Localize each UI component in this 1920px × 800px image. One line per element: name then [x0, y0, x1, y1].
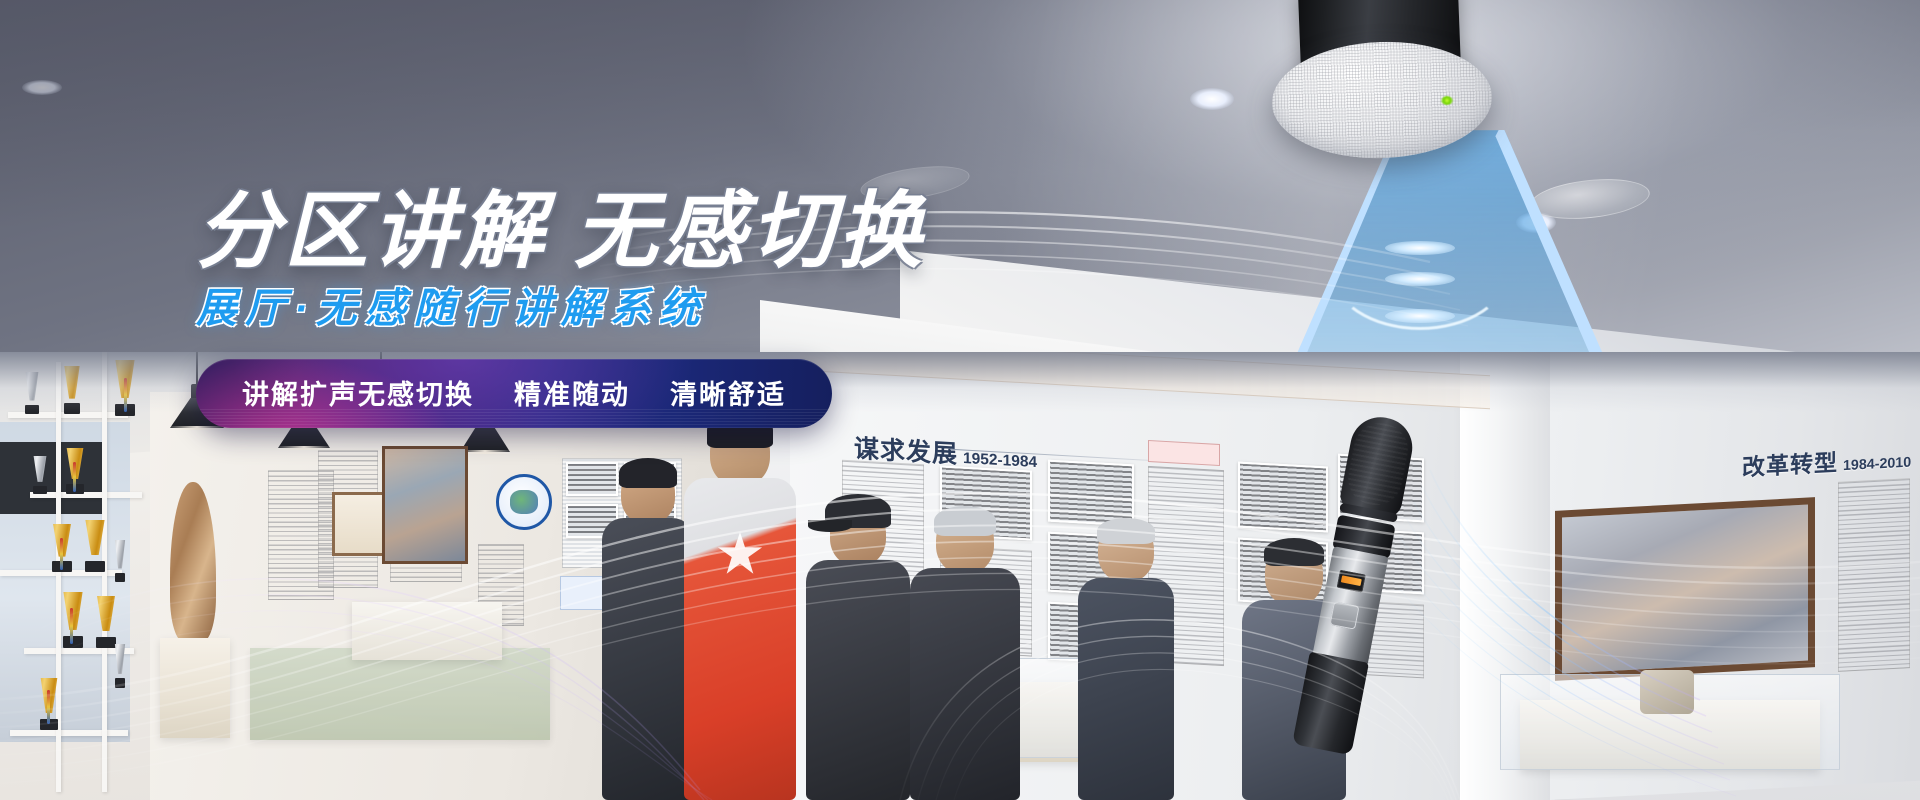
headline-part-2: 无感切换	[574, 184, 926, 278]
visitor-torso	[602, 518, 694, 800]
feature-item-2: 精准随动	[514, 373, 630, 412]
trophy	[92, 596, 120, 648]
framed-historical-painting	[1555, 497, 1815, 681]
visitor-with-cap	[806, 504, 910, 800]
feature-item-1: 讲解扩声无感切换	[242, 373, 474, 412]
downlight-icon	[22, 80, 62, 95]
visitor-hair	[1264, 538, 1324, 566]
trophy-ribbon	[60, 538, 63, 570]
mic-handle	[1292, 652, 1369, 756]
feature-item-3: 清晰舒适	[670, 373, 786, 412]
exhibit-display-case	[352, 602, 502, 660]
wall-panel-years: 1984-2010	[1843, 455, 1911, 475]
downlight-icon	[1190, 88, 1234, 110]
info-placard	[1148, 440, 1220, 466]
visitor-in-red-vest	[684, 420, 796, 800]
cap-brim-icon	[808, 520, 852, 532]
trophy	[112, 644, 128, 688]
visitor	[602, 464, 694, 800]
school-emblem-icon	[496, 474, 552, 530]
exhibit-photo	[1048, 460, 1134, 527]
trophy	[58, 592, 88, 648]
wall-panel-title-text: 改革转型	[1742, 449, 1838, 480]
statue-plinth	[160, 638, 230, 738]
trophy-shelf	[10, 730, 128, 736]
trophy	[112, 540, 128, 582]
exhibit-display-case	[250, 648, 550, 740]
exhibit-photo	[1238, 461, 1328, 532]
trophy	[30, 456, 50, 494]
sound-wave-glow	[1385, 309, 1455, 323]
exhibit-object	[1640, 670, 1694, 714]
visitor-hair	[619, 458, 677, 488]
trophy-ribbon	[70, 608, 73, 644]
wall-text-panel	[1838, 478, 1910, 672]
promo-banner: 谋求发展1952-1984 改革转型1984-2010	[0, 0, 1920, 800]
trophy-shelf-divider	[102, 352, 107, 792]
framed-portrait-photo	[382, 446, 468, 564]
visitor-torso	[684, 478, 796, 800]
speaker-status-led-icon	[1441, 96, 1453, 105]
visitor-elderly	[910, 510, 1020, 800]
visitor-torso	[910, 568, 1020, 800]
feature-pill-bar: 讲解扩声无感切换 精准随动 清晰舒适	[196, 359, 832, 428]
visitor-hair	[1097, 518, 1155, 544]
visitor-hair	[934, 506, 996, 536]
visitor	[1078, 520, 1174, 800]
trophy	[80, 520, 110, 572]
banner-copy: 分区讲解无感切换 展厅·无感随行讲解系统 讲解扩声无感切换 精准随动 清晰舒适	[196, 188, 1096, 428]
visitor-torso	[806, 560, 910, 800]
page-subtitle: 展厅·无感随行讲解系统	[196, 285, 1096, 332]
headline-part-1: 分区讲解	[196, 184, 548, 278]
sound-wave-glow	[1385, 272, 1455, 286]
visitor-torso	[1078, 578, 1174, 800]
trophy-ribbon	[47, 690, 50, 724]
door-header-panel	[0, 442, 104, 514]
mic-power-button	[1329, 601, 1359, 630]
trophy-ribbon	[73, 462, 76, 492]
page-title: 分区讲解无感切换	[196, 188, 1096, 275]
